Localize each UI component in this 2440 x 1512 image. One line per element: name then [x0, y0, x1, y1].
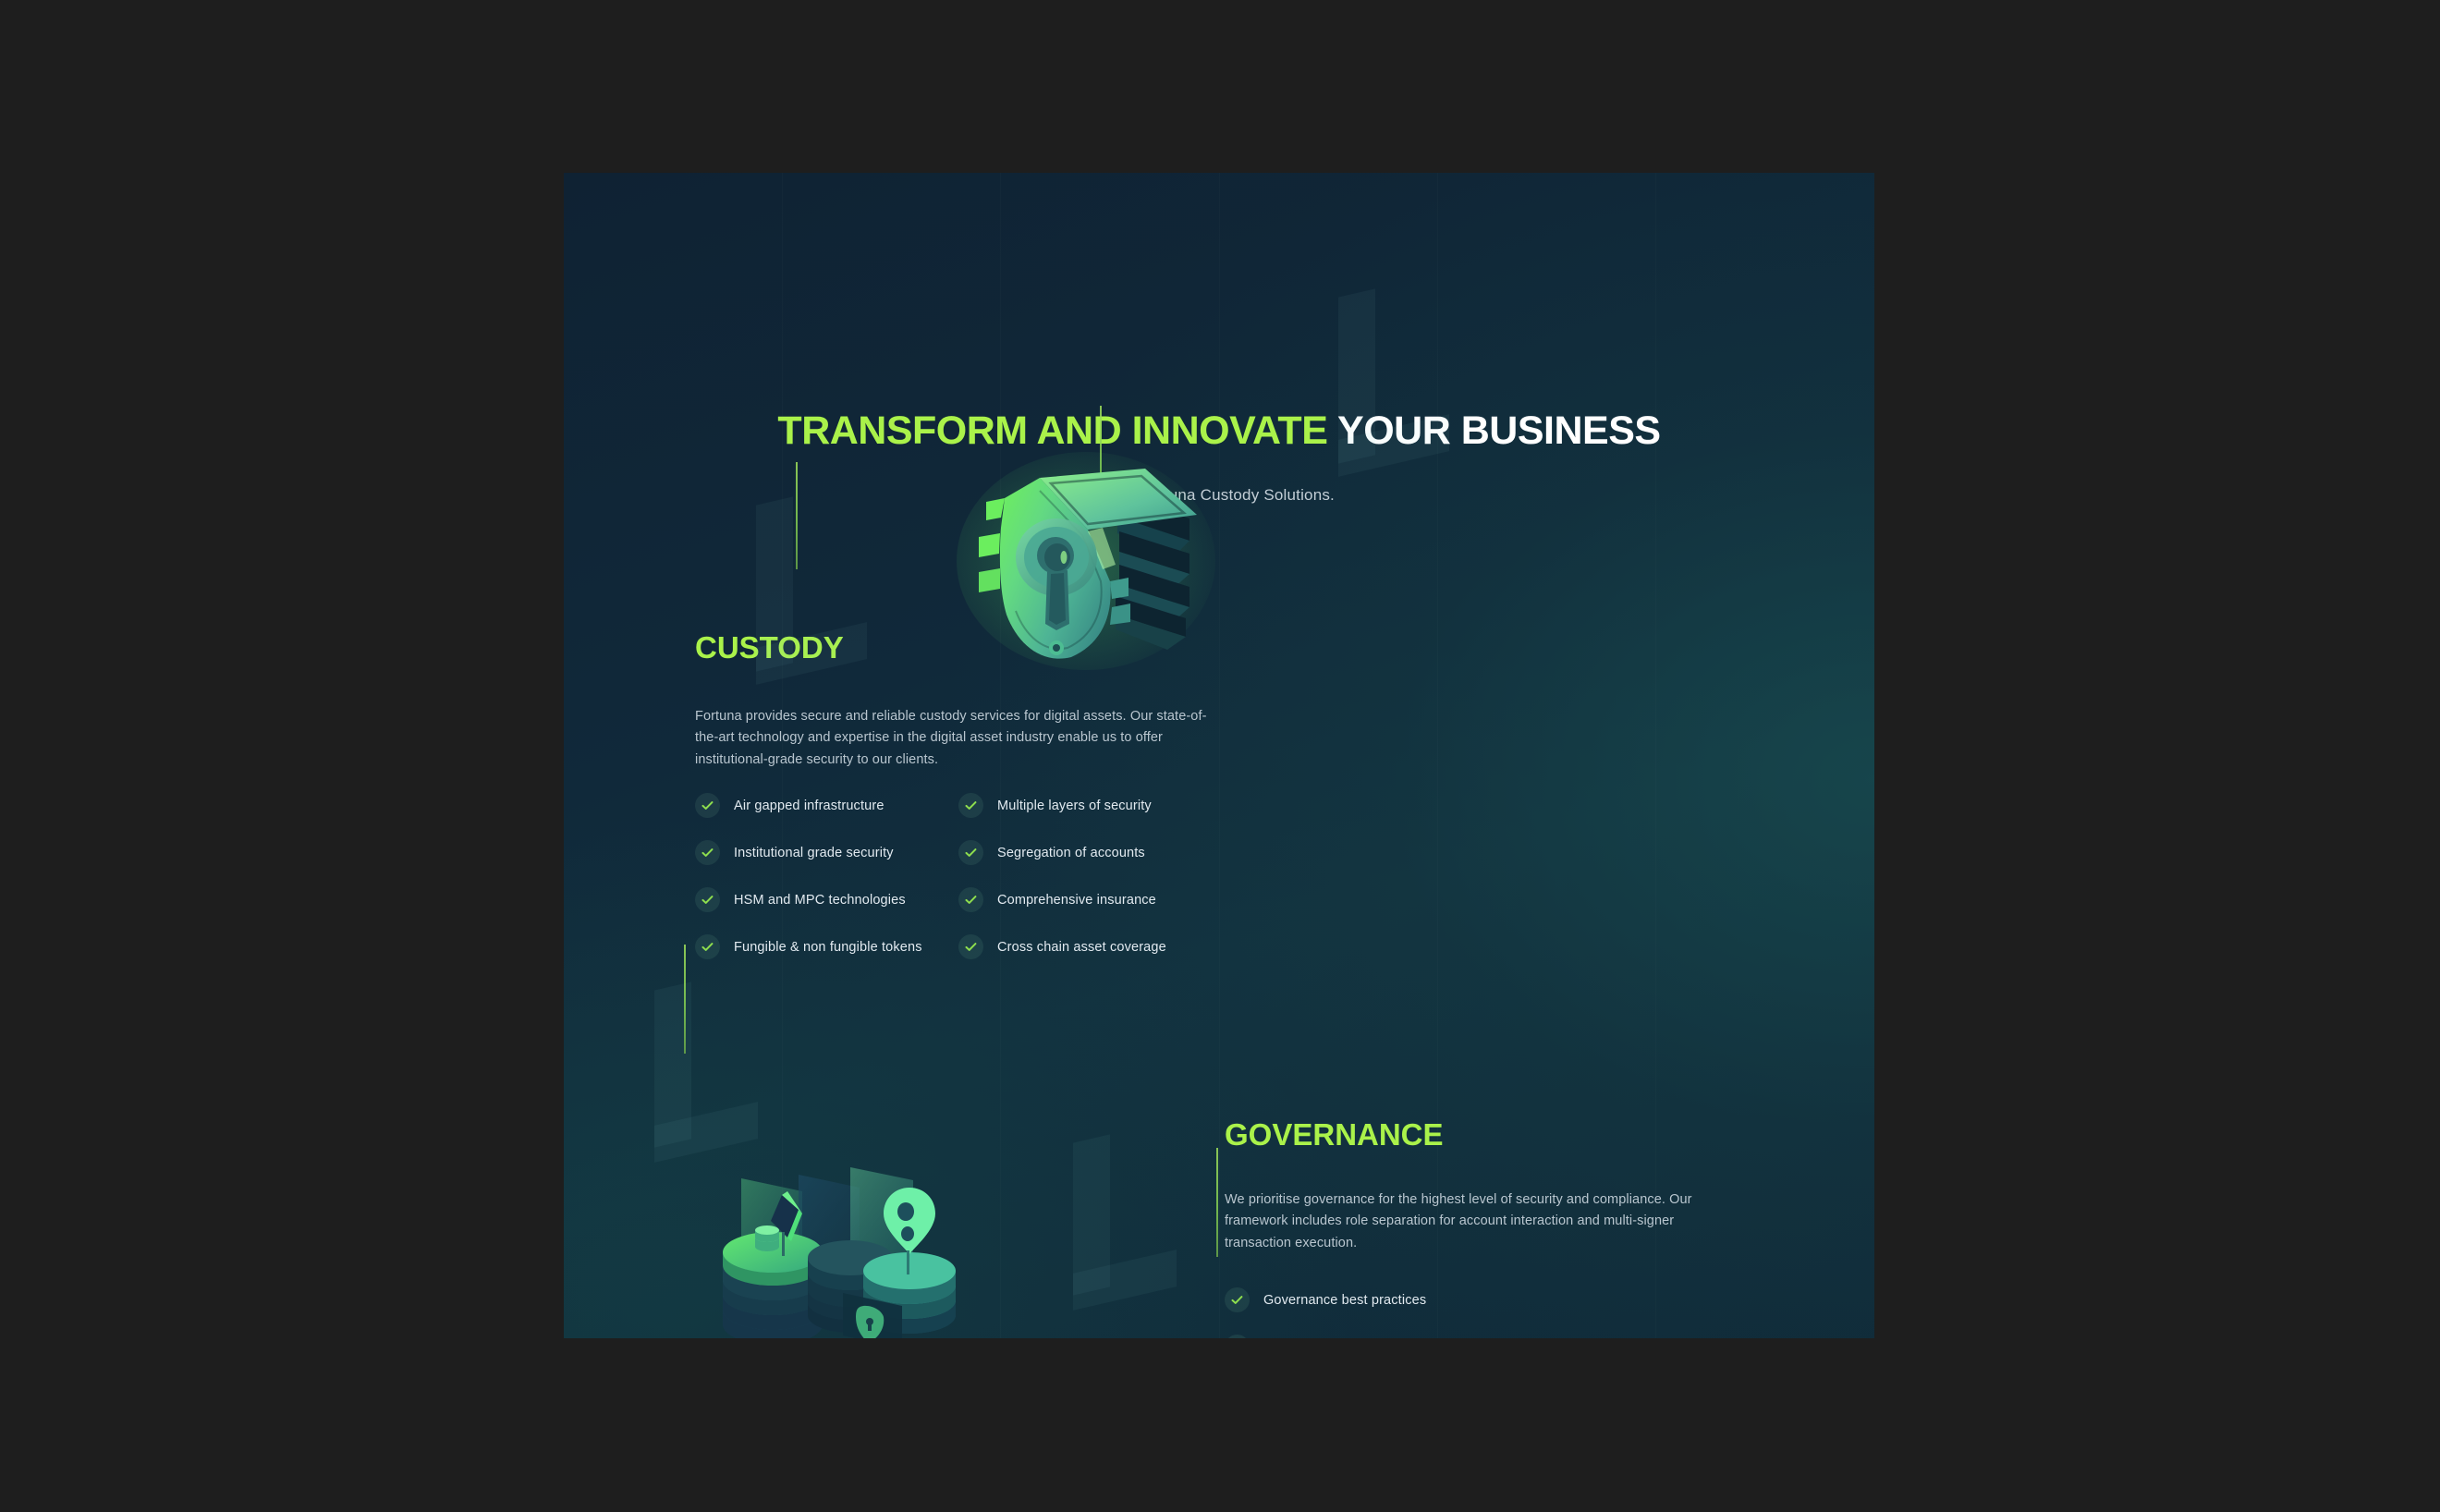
decor-accent-line [1216, 1148, 1218, 1257]
server-stacks-governance-illustration [710, 1134, 1015, 1338]
feature-label: Fungible & non fungible tokens [734, 940, 922, 955]
decor-accent-line [684, 945, 686, 1054]
feature-label: Air gapped infrastructure [734, 799, 884, 813]
feature-label: Institutional grade security [734, 846, 894, 860]
bg-seam [1219, 173, 1220, 1338]
page-title-accent: TRANSFORM AND INNOVATE [777, 408, 1327, 453]
check-icon [695, 934, 720, 959]
page-root: TRANSFORM AND INNOVATE YOUR BUSINESS Wit… [0, 0, 2440, 1512]
feature-label: HSM and MPC technologies [734, 893, 906, 908]
feature-label: Governance best practices [1263, 1293, 1426, 1308]
check-icon [958, 934, 983, 959]
feature-label: Segregation of accounts [997, 846, 1145, 860]
decor-bracket [654, 1102, 758, 1163]
section-title-governance: GOVERNANCE [1225, 1117, 1444, 1152]
check-icon [1225, 1287, 1250, 1312]
feature-item: Multiple layers of security [958, 793, 1152, 818]
decor-bracket [1073, 1134, 1110, 1295]
feature-item: Cross chain asset coverage [958, 934, 1166, 959]
check-icon [695, 793, 720, 818]
check-icon [958, 887, 983, 912]
feature-item: Role-based account interaction [1225, 1335, 1452, 1338]
page-title: TRANSFORM AND INNOVATE YOUR BUSINESS [564, 408, 1874, 454]
check-icon [695, 840, 720, 865]
feature-item: HSM and MPC technologies [695, 887, 906, 912]
bg-seam [1655, 173, 1656, 1338]
section-title-custody: CUSTODY [695, 630, 844, 665]
decor-accent-line [796, 462, 798, 569]
section-body-governance: We prioritise governance for the highest… [1225, 1189, 1724, 1254]
bg-seam [1437, 173, 1438, 1338]
decor-bracket [1073, 1250, 1177, 1311]
decor-bracket [654, 982, 691, 1147]
check-icon [1225, 1335, 1250, 1338]
shield-keyhole-layers-illustration [947, 443, 1252, 672]
section-body-custody: Fortuna provides secure and reliable cus… [695, 706, 1209, 771]
feature-item: Air gapped infrastructure [695, 793, 884, 818]
check-icon [695, 887, 720, 912]
feature-item: Governance best practices [1225, 1287, 1426, 1312]
feature-label: Cross chain asset coverage [997, 940, 1166, 955]
page-subtitle: With Fortuna Custody Solutions. [564, 486, 1874, 505]
feature-item: Institutional grade security [695, 840, 894, 865]
feature-item: Comprehensive insurance [958, 887, 1156, 912]
feature-item: Fungible & non fungible tokens [695, 934, 922, 959]
page-title-plain: YOUR BUSINESS [1337, 408, 1661, 453]
feature-label: Multiple layers of security [997, 799, 1152, 813]
feature-label: Comprehensive insurance [997, 893, 1156, 908]
content-panel: TRANSFORM AND INNOVATE YOUR BUSINESS Wit… [564, 173, 1874, 1338]
check-icon [958, 840, 983, 865]
check-icon [958, 793, 983, 818]
feature-item: Segregation of accounts [958, 840, 1145, 865]
